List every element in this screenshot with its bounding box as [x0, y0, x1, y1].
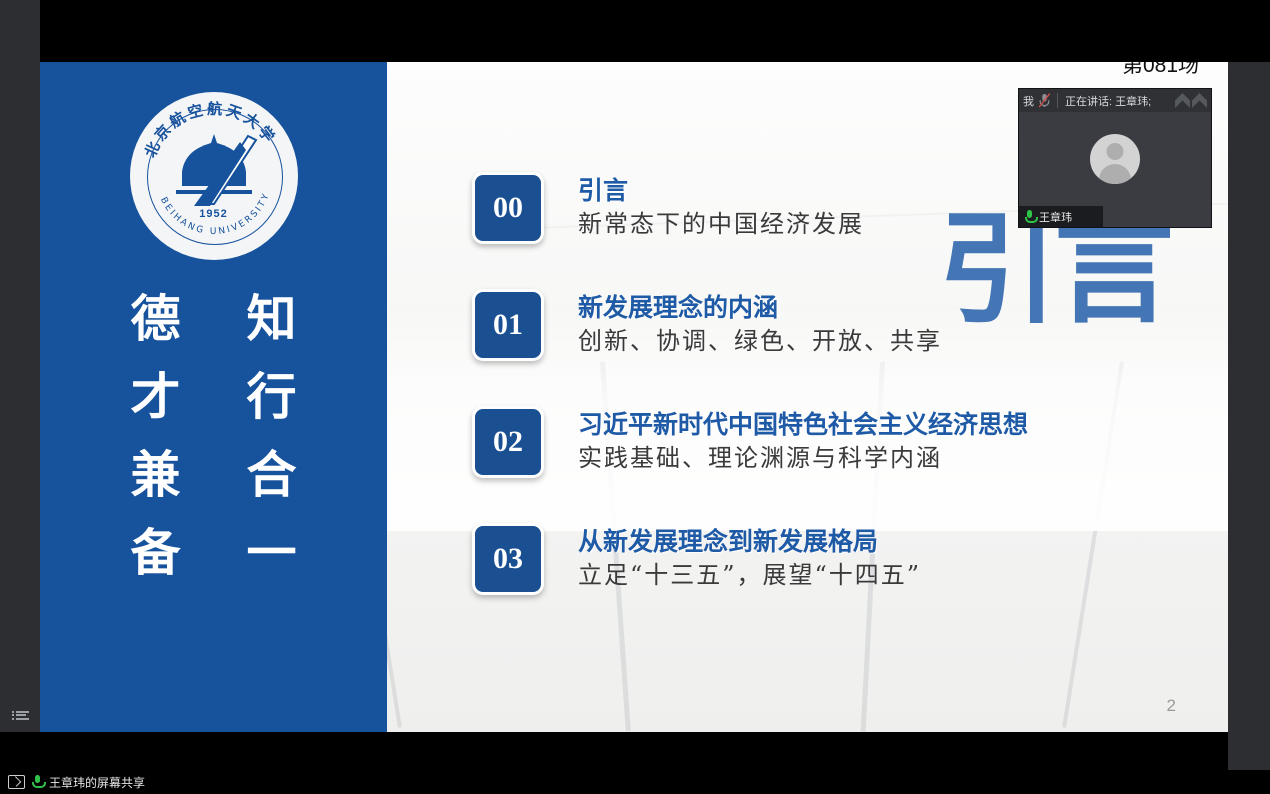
- motto-char: 备: [131, 528, 181, 578]
- self-label: 我: [1023, 93, 1034, 109]
- list-outline-icon: [12, 709, 29, 721]
- agenda-item: 01 新发展理念的内涵 创新、协调、绿色、开放、共享: [472, 289, 1212, 361]
- microphone-on-icon[interactable]: [32, 775, 42, 789]
- microphone-muted-icon[interactable]: [1038, 93, 1051, 108]
- agenda-list: 00 引言 新常态下的中国经济发展 01 新发展理念的内涵 创新、协调、绿色、开…: [472, 172, 1212, 640]
- self-indicator: 我: [1023, 93, 1057, 109]
- screen-share-status-text: 王章玮的屏幕共享: [49, 774, 145, 791]
- letterbox-top: [40, 0, 1270, 62]
- motto-char: 行: [247, 372, 297, 422]
- motto-column-left: 德 才 兼 备: [131, 294, 181, 578]
- agenda-number-badge: 03: [472, 523, 544, 595]
- university-motto: 德 才 兼 备 知 行 合 一: [40, 294, 387, 578]
- microphone-on-icon: [1025, 210, 1034, 223]
- screen-share-statusbar: 王章玮的屏幕共享: [0, 770, 1270, 794]
- motto-char: 兼: [131, 450, 181, 500]
- agenda-item: 03 从新发展理念到新发展格局 立足“十三五”，展望“十四五”: [472, 523, 1212, 595]
- logo-founded-year: 1952: [130, 208, 298, 220]
- participants-list-button[interactable]: [0, 695, 40, 735]
- screen-share-icon: [8, 775, 25, 789]
- agenda-subtitle: 实践基础、理论渊源与科学内涵: [578, 443, 1028, 474]
- beihang-university-logo: 北京航空航天大学 BEIHANG UNIVERSITY 1952: [130, 92, 298, 260]
- header-divider: [1057, 93, 1058, 108]
- agenda-title: 习近平新时代中国特色社会主义经济思想: [578, 410, 1028, 441]
- agenda-title: 新发展理念的内涵: [578, 293, 942, 324]
- default-avatar-icon: [1090, 134, 1140, 184]
- left-toolbar: [0, 0, 40, 770]
- right-gutter: [1228, 62, 1270, 770]
- motto-char: 德: [131, 294, 181, 344]
- participant-name-badge: 王章玮: [1019, 206, 1103, 227]
- motto-char: 才: [131, 372, 181, 422]
- motto-column-right: 知 行 合 一: [247, 294, 297, 578]
- agenda-subtitle: 创新、协调、绿色、开放、共享: [578, 326, 942, 357]
- meeting-window: 引言 北京航空航天大学 BEIHANG UNIVERSI: [0, 0, 1270, 794]
- agenda-subtitle: 新常态下的中国经济发展: [578, 209, 864, 240]
- session-title: 第081场: [1122, 62, 1199, 79]
- agenda-number-badge: 01: [472, 289, 544, 361]
- motto-char: 知: [247, 294, 297, 344]
- speaking-status: 正在讲话: 王章玮;: [1065, 93, 1175, 109]
- participant-video-panel[interactable]: 我 正在讲话: 王章玮; 王章玮: [1018, 88, 1212, 228]
- letterbox-bottom: [0, 732, 1228, 770]
- audio-level-icon: [1175, 93, 1207, 108]
- video-panel-header: 我 正在讲话: 王章玮;: [1019, 89, 1211, 112]
- agenda-title: 引言: [578, 176, 864, 207]
- motto-char: 一: [247, 528, 297, 578]
- agenda-subtitle: 立足“十三五”，展望“十四五”: [578, 560, 921, 591]
- agenda-number-badge: 00: [472, 172, 544, 244]
- slide-blue-panel: 北京航空航天大学 BEIHANG UNIVERSITY 1952: [40, 62, 387, 732]
- motto-char: 合: [247, 450, 297, 500]
- slide-page-number: 2: [1167, 696, 1176, 716]
- video-placeholder[interactable]: [1019, 112, 1211, 206]
- participant-name: 王章玮: [1039, 209, 1072, 225]
- agenda-title: 从新发展理念到新发展格局: [578, 527, 921, 558]
- agenda-item: 02 习近平新时代中国特色社会主义经济思想 实践基础、理论渊源与科学内涵: [472, 406, 1212, 478]
- agenda-number-badge: 02: [472, 406, 544, 478]
